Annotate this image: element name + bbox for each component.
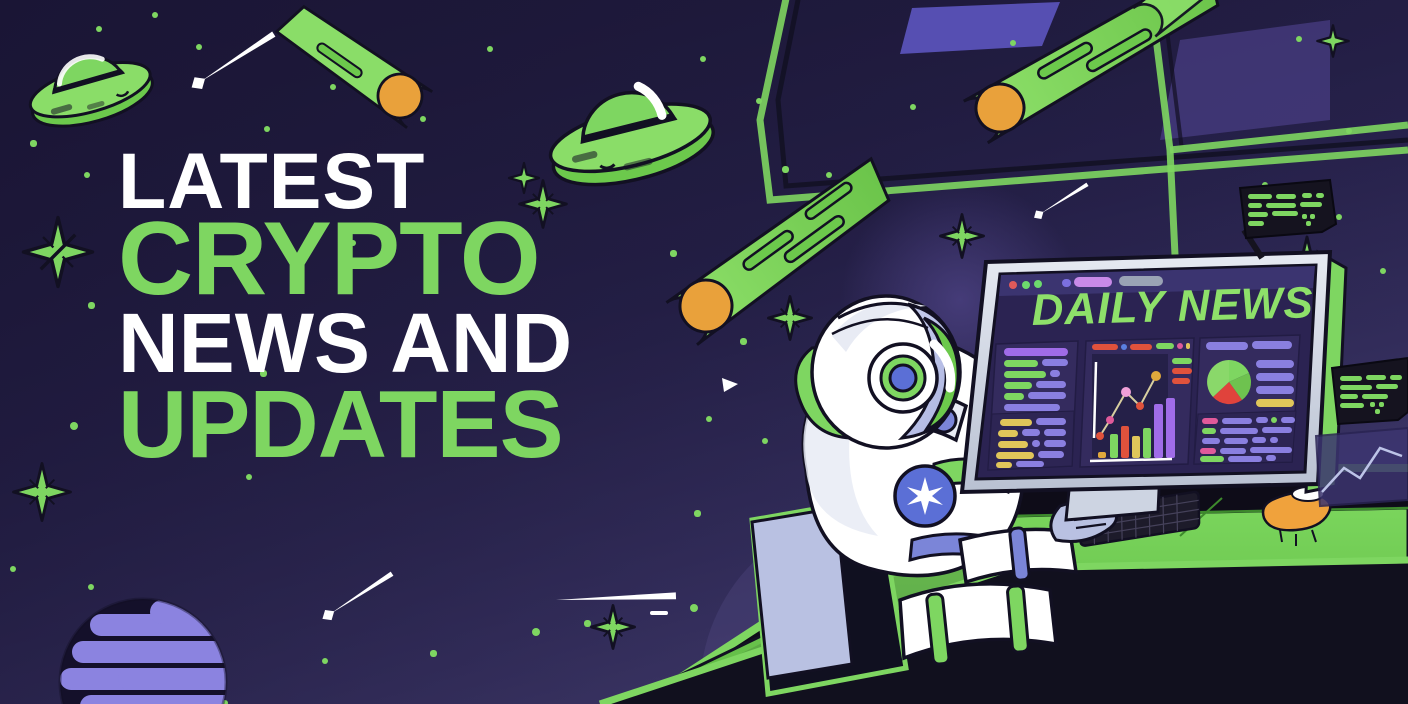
terminal-bottom-right[interactable] — [1332, 358, 1408, 424]
terminals-layer — [0, 0, 1408, 704]
terminal-top-right[interactable] — [1240, 180, 1336, 238]
banner-illustration: DAILY NEWS — [0, 0, 1408, 704]
side-chart-card — [1316, 428, 1408, 506]
